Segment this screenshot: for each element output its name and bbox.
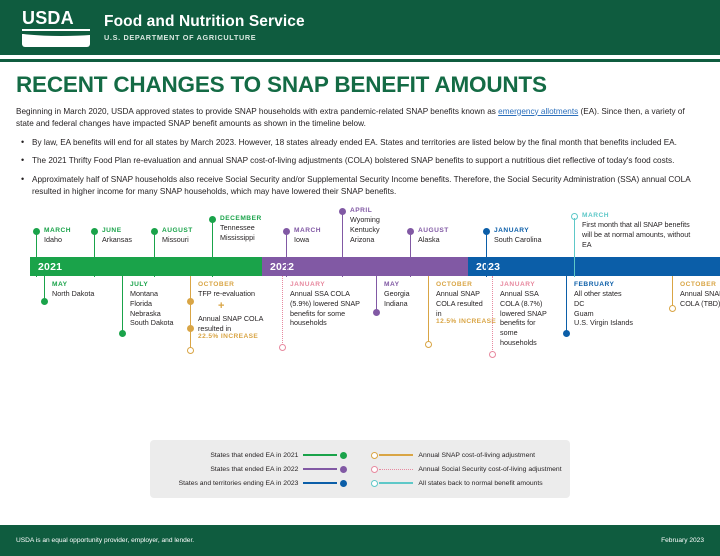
- event-stem: [428, 276, 430, 344]
- event-month: JANUARY: [494, 281, 552, 288]
- legend-item-ssa-cola: Annual Social Security cost-of-living ad…: [371, 466, 561, 473]
- event-detail: Iowa: [288, 235, 321, 245]
- event-stem: [36, 232, 38, 277]
- event-month: FEBRUARY: [568, 281, 633, 288]
- timeline: 2021 2022 2023 MARCH Idaho JUNE Arkansas…: [16, 207, 704, 382]
- agency-subtitle: U.S. DEPARTMENT OF AGRICULTURE: [104, 34, 305, 42]
- bullet-item: Approximately half of SNAP households al…: [16, 174, 704, 199]
- event-stem: [190, 276, 192, 350]
- legend-label: Annual Social Security cost-of-living ad…: [418, 466, 561, 473]
- event-month: OCTOBER: [192, 281, 288, 288]
- agency-name: Food and Nutrition Service: [104, 13, 305, 31]
- event-stem: [376, 276, 378, 311]
- emergency-allotments-link[interactable]: emergency allotments: [498, 107, 578, 116]
- event-detail: Wyoming Kentucky Arizona: [344, 215, 380, 244]
- timeline-event-march-2023-normal: MARCH First month that all SNAP benefits…: [576, 212, 706, 249]
- event-dot-icon: [373, 309, 380, 316]
- event-stem: [44, 276, 46, 300]
- event-month: JULY: [124, 281, 174, 288]
- event-stem: [672, 276, 674, 308]
- timeline-event-january-2023: JANUARY South Carolina: [488, 227, 542, 245]
- legend-dot-icon: [340, 480, 347, 487]
- event-stem: [212, 220, 214, 277]
- timeline-event-january-2023-ssa: JANUARY Annual SSA COLA (8.7%) lowered S…: [494, 281, 552, 347]
- event-ring-icon: [187, 347, 194, 354]
- event-month: OCTOBER: [430, 281, 492, 288]
- event-detail: First month that all SNAP benefits will …: [576, 220, 700, 249]
- event-detail: Missouri: [156, 235, 193, 245]
- timeline-event-august-2021: AUGUST Missouri: [156, 227, 193, 245]
- event-month: MARCH: [576, 212, 706, 219]
- event-stem: [566, 276, 568, 332]
- timeline-event-march-2022: MARCH Iowa: [288, 227, 321, 245]
- timeline-event-february-2023: FEBRUARY All other states DC Guam U.S. V…: [568, 281, 633, 328]
- event-dot-icon: [41, 298, 48, 305]
- timeline-event-october-2022-cola: OCTOBER Annual SNAP COLA resulted in 12.…: [430, 281, 492, 327]
- timeline-event-october-2023-cola: OCTOBER Annual SNAP COLA (TBD): [674, 281, 720, 308]
- event-detail-cola: Annual SNAP COLA (TBD): [674, 289, 720, 308]
- bullet-item: By law, EA benefits will end for all sta…: [16, 137, 704, 149]
- publication-date: February 2023: [661, 537, 704, 544]
- legend-item-normal-amounts: All states back to normal benefit amount…: [371, 480, 561, 487]
- page-footer: USDA is an equal opportunity provider, e…: [0, 525, 720, 556]
- event-month: AUGUST: [412, 227, 449, 234]
- legend-line: [379, 454, 413, 456]
- event-month: JANUARY: [488, 227, 542, 234]
- usda-logo: USDA: [22, 9, 90, 47]
- plus-symbol: +: [192, 301, 288, 312]
- event-stem: [94, 232, 96, 277]
- timeline-event-june-2021: JUNE Arkansas: [96, 227, 132, 245]
- timeline-event-october-2021-cola: OCTOBER TFP re-evaluation + Annual SNAP …: [192, 281, 288, 342]
- event-detail: North Dakota: [46, 289, 94, 299]
- usda-header: USDA Food and Nutrition Service U.S. DEP…: [0, 0, 720, 55]
- usda-wordmark: USDA: [22, 9, 90, 31]
- event-stem: [154, 232, 156, 277]
- bullet-item: The 2021 Thrifty Food Plan re-evaluation…: [16, 155, 704, 167]
- timeline-event-may-2021: MAY North Dakota: [46, 281, 94, 299]
- event-detail: Georgia Indiana: [378, 289, 410, 308]
- year-label-2023: 2023: [468, 261, 500, 273]
- event-month: MAY: [378, 281, 410, 288]
- legend-ring-icon: [371, 466, 378, 473]
- timeline-event-july-2021: JULY Montana Florida Nebraska South Dako…: [124, 281, 174, 328]
- legend-label: Annual SNAP cost-of-living adjustment: [418, 452, 535, 459]
- event-month: DECEMBER: [214, 215, 262, 222]
- event-ring-icon: [489, 351, 496, 358]
- event-month: MARCH: [288, 227, 321, 234]
- event-stem: [286, 232, 288, 277]
- event-detail: South Carolina: [488, 235, 542, 245]
- legend-line: [379, 482, 413, 484]
- legend-column-right: Annual SNAP cost-of-living adjustment An…: [371, 452, 561, 487]
- intro-paragraph: Beginning in March 2020, USDA approved s…: [16, 106, 704, 131]
- event-ring-icon: [425, 341, 432, 348]
- event-ring-icon: [669, 305, 676, 312]
- event-detail-cola: Annual SNAP COLA resulted in: [192, 314, 282, 333]
- legend-line-dotted: [379, 469, 413, 470]
- event-stem: [342, 212, 344, 277]
- legend-label: States and territories ending EA in 2023: [158, 480, 298, 487]
- event-month: AUGUST: [156, 227, 193, 234]
- event-detail: Arkansas: [96, 235, 132, 245]
- event-percent-increase: 22.5% INCREASE: [192, 333, 288, 342]
- legend-label: States that ended EA in 2021: [158, 452, 298, 459]
- event-detail-cola: Annual SNAP COLA resulted in: [430, 289, 488, 318]
- timeline-event-january-2022-ssa: JANUARY Annual SSA COLA (5.9%) lowered S…: [284, 281, 368, 328]
- event-month: MARCH: [38, 227, 71, 234]
- legend-item-snap-cola: Annual SNAP cost-of-living adjustment: [371, 452, 561, 459]
- event-detail: Idaho: [38, 235, 71, 245]
- event-dotted-stem: [492, 276, 493, 354]
- legend-ring-icon: [371, 452, 378, 459]
- legend-column-left: States that ended EA in 2021 States that…: [158, 452, 347, 487]
- event-month: MAY: [46, 281, 94, 288]
- timeline-event-may-2022: MAY Georgia Indiana: [378, 281, 410, 308]
- page-title: RECENT CHANGES TO SNAP BENEFIT AMOUNTS: [16, 74, 704, 97]
- event-month: APRIL: [344, 207, 380, 214]
- legend-line: [303, 468, 337, 470]
- timeline-event-april-2022: APRIL Wyoming Kentucky Arizona: [344, 207, 380, 244]
- timeline-event-march-2021: MARCH Idaho: [38, 227, 71, 245]
- legend-panel: States that ended EA in 2021 States that…: [150, 440, 570, 498]
- event-month: OCTOBER: [674, 281, 720, 288]
- event-stem: [486, 232, 488, 277]
- event-stem: [410, 232, 412, 277]
- event-dotted-stem: [282, 276, 283, 347]
- equal-opportunity-statement: USDA is an equal opportunity provider, e…: [16, 537, 194, 544]
- legend-item-2021: States that ended EA in 2021: [158, 452, 347, 459]
- timeline-event-december-2021: DECEMBER Tennessee Mississippi: [214, 215, 262, 242]
- legend-ring-icon: [371, 480, 378, 487]
- legend-dot-icon: [340, 452, 347, 459]
- legend-line: [303, 482, 337, 484]
- event-detail: Annual SSA COLA (5.9%) lowered SNAP bene…: [284, 289, 366, 328]
- legend-dot-icon: [340, 466, 347, 473]
- year-label-2021: 2021: [30, 261, 62, 273]
- usda-swoosh-graphic: [22, 34, 90, 47]
- timeline-bar-2021: 2021: [30, 257, 262, 276]
- event-detail: All other states DC Guam U.S. Virgin Isl…: [568, 289, 633, 328]
- event-percent-increase: 12.5% INCREASE: [430, 318, 488, 327]
- timeline-bar-2022: 2022: [262, 257, 468, 276]
- event-detail: Tennessee Mississippi: [214, 223, 262, 242]
- timeline-event-august-2022: AUGUST Alaska: [412, 227, 449, 245]
- event-stem: [122, 276, 124, 332]
- event-month: JUNE: [96, 227, 132, 234]
- event-detail: Alaska: [412, 235, 449, 245]
- agency-block: Food and Nutrition Service U.S. DEPARTME…: [104, 13, 305, 42]
- bullet-list: By law, EA benefits will end for all sta…: [16, 137, 704, 198]
- event-dot-icon: [119, 330, 126, 337]
- legend-label: All states back to normal benefit amount…: [418, 480, 542, 487]
- timeline-bar-2023: 2023: [468, 257, 720, 276]
- legend-item-2022: States that ended EA in 2022: [158, 466, 347, 473]
- event-detail: Annual SSA COLA (8.7%) lowered SNAP bene…: [494, 289, 550, 347]
- event-ring-icon: [279, 344, 286, 351]
- legend-label: States that ended EA in 2022: [158, 466, 298, 473]
- legend-inner: States that ended EA in 2021 States that…: [150, 440, 570, 498]
- event-detail: Montana Florida Nebraska South Dakota: [124, 289, 174, 328]
- event-dot-icon: [563, 330, 570, 337]
- year-label-2022: 2022: [262, 261, 294, 273]
- intro-text-part1: Beginning in March 2020, USDA approved s…: [16, 107, 498, 116]
- legend-line: [303, 454, 337, 456]
- event-stem: [574, 218, 576, 277]
- event-detail-tfp: TFP re-evaluation: [192, 289, 288, 299]
- event-month: JANUARY: [284, 281, 368, 288]
- legend-item-2023: States and territories ending EA in 2023: [158, 480, 347, 487]
- main-content: RECENT CHANGES TO SNAP BENEFIT AMOUNTS B…: [0, 62, 720, 382]
